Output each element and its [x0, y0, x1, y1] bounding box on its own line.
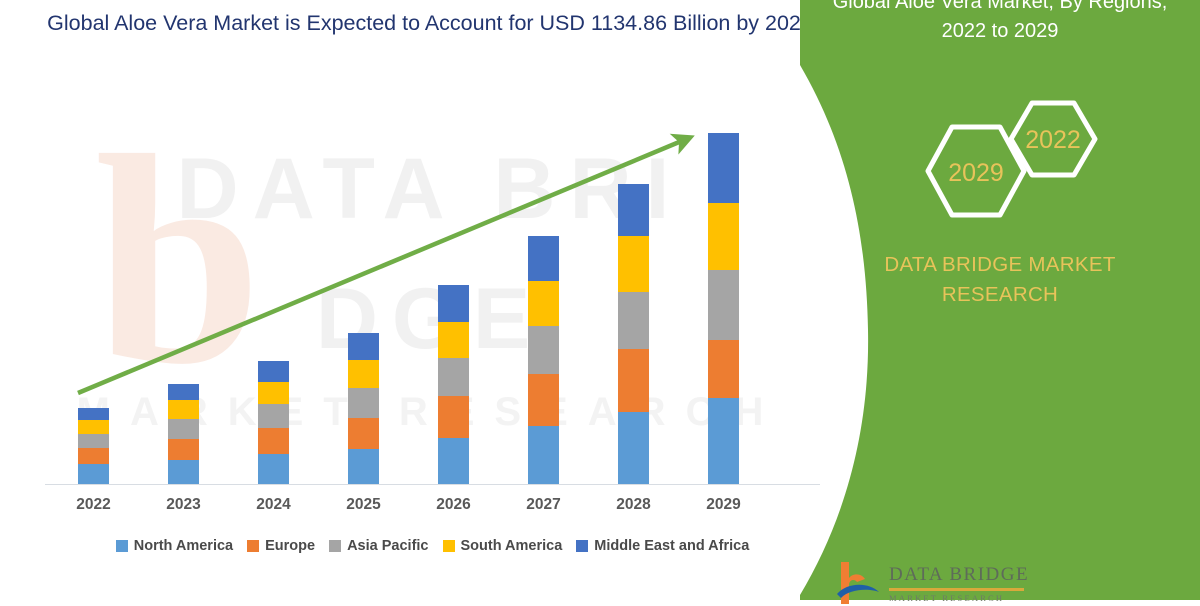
- bar-segment-middle-east-and-africa[interactable]: [708, 133, 739, 203]
- bar-segment-south-america[interactable]: [258, 382, 289, 404]
- bar-segment-europe[interactable]: [168, 439, 199, 460]
- legend-item-south-america[interactable]: South America: [443, 538, 563, 554]
- company-logo: DATA BRIDGE MARKET RESEARCH: [835, 558, 1085, 606]
- x-axis-labels: 20222023202420252026202720282029: [0, 496, 860, 524]
- legend-label: Middle East and Africa: [594, 538, 749, 554]
- x-axis-label-2028: 2028: [594, 496, 674, 514]
- bar-segment-asia-pacific[interactable]: [708, 270, 739, 340]
- x-axis-label-2025: 2025: [324, 496, 404, 514]
- bar-segment-middle-east-and-africa[interactable]: [78, 408, 109, 420]
- bar-segment-europe[interactable]: [78, 448, 109, 464]
- bar-segment-north-america[interactable]: [78, 464, 109, 484]
- bar-segment-europe[interactable]: [528, 374, 559, 426]
- bar-2028[interactable]: [618, 184, 649, 484]
- bar-segment-asia-pacific[interactable]: [618, 292, 649, 349]
- brand-name-line-2: RESEARCH: [820, 280, 1180, 310]
- x-axis-label-2024: 2024: [234, 496, 314, 514]
- bar-segment-south-america[interactable]: [348, 360, 379, 388]
- bar-segment-middle-east-and-africa[interactable]: [528, 236, 559, 281]
- company-logo-rule: [889, 588, 1024, 591]
- bar-segment-middle-east-and-africa[interactable]: [618, 184, 649, 236]
- bar-segment-asia-pacific[interactable]: [258, 404, 289, 428]
- infographic-root: b DATA BRI DGE MARKET RESEARCH Global Al…: [0, 0, 1200, 600]
- x-axis-label-2029: 2029: [684, 496, 764, 514]
- bar-segment-north-america[interactable]: [258, 454, 289, 484]
- brand-name-line-1: DATA BRIDGE MARKET: [820, 250, 1180, 280]
- bar-segment-south-america[interactable]: [618, 236, 649, 292]
- brand-name: DATA BRIDGE MARKET RESEARCH: [820, 250, 1180, 310]
- bar-segment-north-america[interactable]: [348, 449, 379, 484]
- bar-segment-north-america[interactable]: [618, 412, 649, 484]
- bar-segment-asia-pacific[interactable]: [438, 358, 469, 396]
- x-axis-line: [45, 484, 820, 485]
- legend-swatch-icon: [329, 540, 341, 552]
- legend-swatch-icon: [116, 540, 128, 552]
- company-logo-subtitle: MARKET RESEARCH: [889, 593, 1029, 603]
- bar-segment-asia-pacific[interactable]: [348, 388, 379, 418]
- brand-panel-title: Global Aloe Vera Market, By Regions, 202…: [830, 0, 1170, 46]
- x-axis-label-2027: 2027: [504, 496, 584, 514]
- x-axis-label-2026: 2026: [414, 496, 494, 514]
- bar-2026[interactable]: [438, 285, 469, 484]
- bar-segment-asia-pacific[interactable]: [168, 419, 199, 439]
- chart-panel: b DATA BRI DGE MARKET RESEARCH Global Al…: [0, 0, 860, 600]
- hexagon-2029-label: 2029: [948, 159, 1004, 187]
- bar-segment-middle-east-and-africa[interactable]: [348, 333, 379, 360]
- bar-segment-europe[interactable]: [438, 396, 469, 438]
- bar-segment-middle-east-and-africa[interactable]: [168, 384, 199, 400]
- brand-panel: Global Aloe Vera Market, By Regions, 202…: [800, 0, 1200, 600]
- bar-segment-europe[interactable]: [258, 428, 289, 454]
- bar-segment-middle-east-and-africa[interactable]: [258, 361, 289, 382]
- bar-segment-south-america[interactable]: [528, 281, 559, 326]
- bar-segment-asia-pacific[interactable]: [78, 434, 109, 448]
- bar-2024[interactable]: [258, 361, 289, 484]
- bar-2023[interactable]: [168, 384, 199, 484]
- chart-legend: North AmericaEuropeAsia PacificSouth Ame…: [45, 538, 820, 554]
- legend-swatch-icon: [247, 540, 259, 552]
- company-logo-mark: [835, 558, 881, 604]
- legend-label: Asia Pacific: [347, 538, 428, 554]
- legend-swatch-icon: [576, 540, 588, 552]
- company-logo-title: DATA BRIDGE: [889, 564, 1029, 586]
- bar-segment-europe[interactable]: [348, 418, 379, 449]
- hexagon-pair: 2022 2029: [880, 95, 1140, 230]
- bar-2022[interactable]: [78, 408, 109, 484]
- bar-segment-north-america[interactable]: [438, 438, 469, 484]
- bar-segment-south-america[interactable]: [438, 322, 469, 358]
- legend-label: North America: [134, 538, 233, 554]
- x-axis-label-2023: 2023: [144, 496, 224, 514]
- bar-2029[interactable]: [708, 133, 739, 484]
- bar-segment-south-america[interactable]: [168, 400, 199, 419]
- bar-segment-europe[interactable]: [618, 349, 649, 412]
- legend-label: South America: [461, 538, 563, 554]
- bar-segment-south-america[interactable]: [708, 203, 739, 270]
- bar-segment-europe[interactable]: [708, 340, 739, 398]
- legend-item-middle-east-and-africa[interactable]: Middle East and Africa: [576, 538, 749, 554]
- bar-segment-north-america[interactable]: [708, 398, 739, 484]
- bar-2025[interactable]: [348, 333, 379, 484]
- company-logo-text: DATA BRIDGE MARKET RESEARCH: [889, 558, 1029, 603]
- bar-segment-north-america[interactable]: [528, 426, 559, 484]
- bar-segment-middle-east-and-africa[interactable]: [438, 285, 469, 322]
- bar-segment-north-america[interactable]: [168, 460, 199, 484]
- legend-item-asia-pacific[interactable]: Asia Pacific: [329, 538, 428, 554]
- bar-segment-asia-pacific[interactable]: [528, 326, 559, 374]
- x-axis-label-2022: 2022: [54, 496, 134, 514]
- bar-2027[interactable]: [528, 236, 559, 484]
- legend-item-europe[interactable]: Europe: [247, 538, 315, 554]
- hexagon-2022-label: 2022: [1025, 126, 1081, 154]
- legend-item-north-america[interactable]: North America: [116, 538, 233, 554]
- bar-segment-south-america[interactable]: [78, 420, 109, 434]
- legend-swatch-icon: [443, 540, 455, 552]
- legend-label: Europe: [265, 538, 315, 554]
